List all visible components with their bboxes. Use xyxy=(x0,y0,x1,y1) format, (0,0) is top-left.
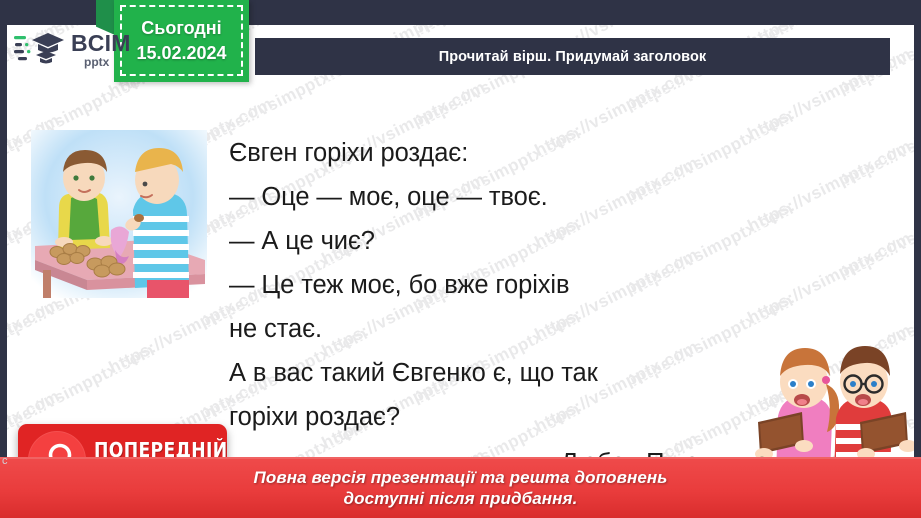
two-boys-with-nuts-illustration xyxy=(29,128,209,300)
date-badge-label: Сьогодні xyxy=(141,18,221,39)
brand-logo: BCIM pptx xyxy=(14,31,131,69)
poem-line: горіхи роздає? xyxy=(229,395,749,439)
purchase-notice-banner: Повна версія презентації та решта доповн… xyxy=(0,457,921,518)
banner-line1: Повна версія презентації та решта доповн… xyxy=(254,468,668,488)
poem-text: Євген горіхи роздає: — Оце — моє, оце — … xyxy=(229,131,749,439)
logo-wordmark: BCIM xyxy=(71,32,131,55)
slide-title-text: Прочитай вірш. Придумай заголовок xyxy=(439,49,707,65)
poem-line: не стає. xyxy=(229,307,749,351)
date-badge: Сьогодні 15.02.2024 xyxy=(114,0,249,82)
slide-title-bar: Прочитай вірш. Придумай заголовок xyxy=(255,38,890,75)
edge-sliver-text: c xyxy=(2,455,8,467)
logo-subtext: pptx xyxy=(84,56,109,68)
graduation-cap-icon xyxy=(14,31,66,69)
slide-stage: https://vsimpptx.comhttps://vsimpptx.com… xyxy=(0,0,921,518)
poem-line: — Оце — моє, оце — твоє. xyxy=(229,175,749,219)
poem-line: Євген горіхи роздає: xyxy=(229,131,749,175)
poem-line: — А це чиє? xyxy=(229,219,749,263)
poem-line: А в вас такий Євгенко є, що так xyxy=(229,351,749,395)
date-badge-value: 15.02.2024 xyxy=(136,43,226,64)
slide-canvas: https://vsimpptx.comhttps://vsimpptx.com… xyxy=(7,25,914,480)
banner-line2: доступні після придбання. xyxy=(344,489,578,509)
poem-line: — Це теж моє, бо вже горіхів xyxy=(229,263,749,307)
